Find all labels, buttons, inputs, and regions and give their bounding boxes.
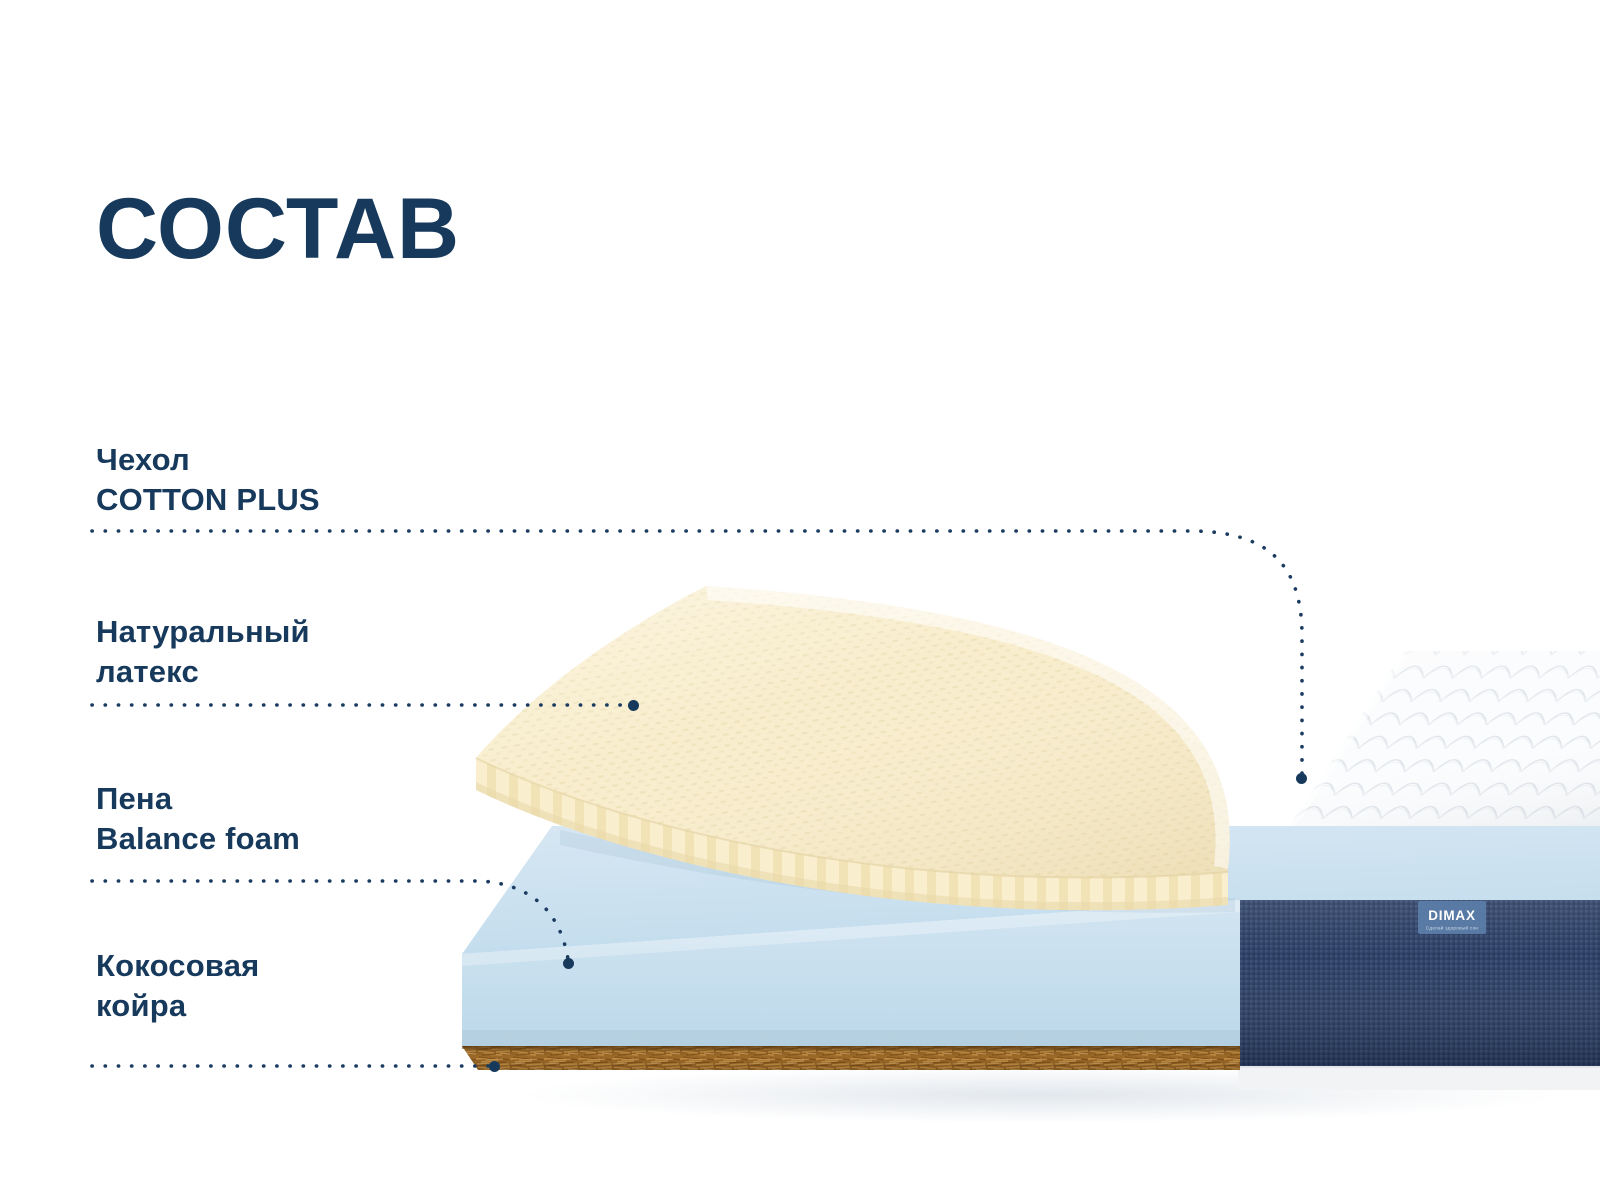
marker-cover — [1296, 773, 1307, 784]
latex-top-shading — [476, 586, 1230, 878]
side-panel — [1238, 898, 1600, 1066]
balance-foam-layer — [462, 826, 1600, 1046]
latex-sheet — [476, 586, 1235, 913]
cover-top — [1250, 651, 1600, 886]
layer-label-foam-line1: Пена — [96, 781, 172, 816]
layer-label-foam-line2: Balance foam — [96, 819, 300, 859]
dimax-tag: DIMAX Сделай здоровый сон — [1418, 901, 1486, 934]
layer-label-latex-line2: латекс — [96, 652, 310, 692]
coconut-coir-layer — [462, 1046, 1240, 1070]
layer-label-latex-line1: Натуральный — [96, 614, 310, 649]
layer-label-cover-line1: Чехол — [96, 442, 190, 477]
layer-label-latex: Натуральный латекс — [96, 612, 310, 691]
latex-front-edge — [476, 758, 1228, 910]
foam-front-face — [462, 900, 1240, 1046]
marker-foam — [563, 958, 574, 969]
bottom-piping — [1238, 1063, 1600, 1090]
layer-label-coir: Кокосовая койра — [96, 946, 259, 1025]
layer-label-foam: Пена Balance foam — [96, 779, 300, 858]
brand-tagline: Сделай здоровый сон — [1426, 925, 1479, 931]
latex-top-surface — [476, 586, 1230, 878]
layer-label-coir-line1: Кокосовая — [96, 948, 259, 983]
layer-label-cover-line2: COTTON PLUS — [96, 480, 320, 520]
coir-front-face — [462, 1046, 1240, 1070]
marker-coir — [489, 1061, 500, 1072]
infographic-canvas: DIMAX Сделай здоровый сон СОСТАВ Чехол C… — [0, 0, 1600, 1200]
marker-latex — [628, 700, 639, 711]
mattress-shadow — [520, 1067, 1560, 1123]
foam-top-surface — [462, 826, 1600, 954]
layer-label-coir-line2: койра — [96, 986, 259, 1026]
page-title: СОСТАВ — [96, 186, 460, 272]
layer-label-cover: Чехол COTTON PLUS — [96, 440, 320, 519]
top-piping — [1238, 884, 1600, 900]
mattress-base — [1238, 651, 1600, 1090]
brand-name: DIMAX — [1428, 908, 1476, 923]
